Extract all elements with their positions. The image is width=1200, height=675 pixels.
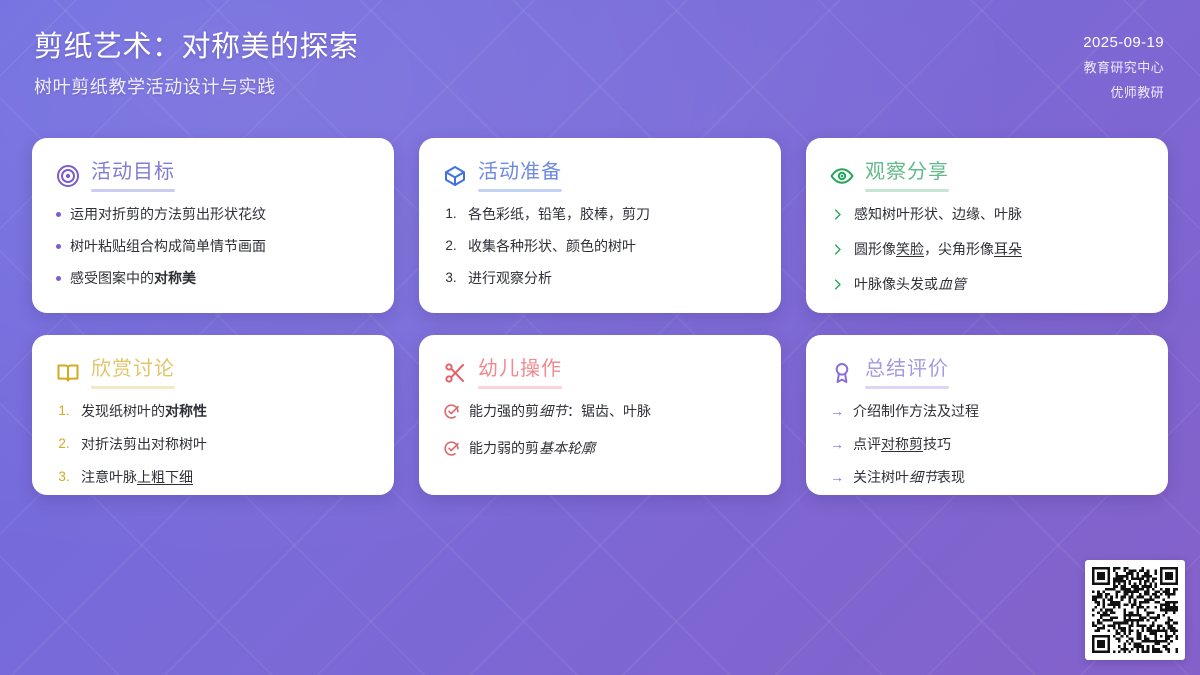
list-number: 3.: [56, 468, 72, 486]
medal-icon: [830, 361, 854, 385]
card-summary-evaluation[interactable]: 总结评价→介绍制作方法及过程→点评对称剪技巧→关注树叶细节表现: [806, 335, 1168, 495]
list-item-text: 能力强的剪细节：锯齿、叶脉: [469, 402, 651, 421]
list-item[interactable]: →介绍制作方法及过程: [830, 402, 1146, 421]
arrow-right-icon: →: [830, 468, 844, 487]
list-item-text: 树叶粘贴组合构成简单情节画面: [70, 237, 266, 256]
card-item-list: 1.发现纸树叶的对称性2.对折法剪出对称树叶3.注意叶脉上粗下细: [56, 402, 372, 495]
list-item-text: 发现纸树叶的对称性: [81, 402, 207, 421]
list-item-text: 感知树叶形状、边缘、叶脉: [854, 205, 1022, 224]
card-title: 欣赏讨论: [91, 358, 175, 380]
page-title: 剪纸艺术：对称美的探索: [34, 30, 359, 65]
list-item[interactable]: 叶脉像头发或血管: [830, 275, 1146, 294]
eye-icon: [830, 164, 854, 188]
card-activity-prep[interactable]: 活动准备1.各色彩纸，铅笔，胶棒，剪刀2.收集各种形状、颜色的树叶3.进行观察分…: [419, 138, 781, 313]
card-item-list: 1.各色彩纸，铅笔，胶棒，剪刀2.收集各种形状、颜色的树叶3.进行观察分析: [443, 205, 759, 301]
qr-code-image: [1092, 567, 1178, 653]
title-underline: [478, 189, 562, 192]
list-item[interactable]: →点评对称剪技巧: [830, 435, 1146, 454]
card-title: 观察分享: [865, 161, 949, 183]
list-item[interactable]: 树叶粘贴组合构成简单情节画面: [56, 237, 372, 256]
chevron-right-icon: [830, 275, 845, 292]
card-title-wrap: 活动目标: [91, 160, 175, 192]
title-underline: [91, 386, 175, 389]
card-header: 欣赏讨论: [56, 357, 372, 389]
card-item-list: →介绍制作方法及过程→点评对称剪技巧→关注树叶细节表现: [830, 402, 1146, 495]
list-item[interactable]: 1.发现纸树叶的对称性: [56, 402, 372, 421]
list-item-text: 圆形像笑脸，尖角形像耳朵: [854, 240, 1022, 259]
chevron-right-icon: [830, 205, 845, 222]
list-item-text: 能力弱的剪基本轮廓: [469, 439, 595, 458]
list-item-text: 进行观察分析: [468, 269, 552, 288]
list-item-text: 关注树叶细节表现: [853, 468, 965, 487]
card-header: 幼儿操作: [443, 357, 759, 389]
list-item[interactable]: 感知树叶形状、边缘、叶脉: [830, 205, 1146, 224]
list-item[interactable]: 感受图案中的对称美: [56, 269, 372, 288]
slide-root: 剪纸艺术：对称美的探索 树叶剪纸教学活动设计与实践 2025-09-19 教育研…: [0, 0, 1200, 675]
card-observe-share[interactable]: 观察分享感知树叶形状、边缘、叶脉圆形像笑脸，尖角形像耳朵叶脉像头发或血管: [806, 138, 1168, 313]
card-header: 活动准备: [443, 160, 759, 192]
card-children-operation[interactable]: 幼儿操作能力强的剪细节：锯齿、叶脉能力弱的剪基本轮廓: [419, 335, 781, 495]
list-item[interactable]: 3.进行观察分析: [443, 269, 759, 288]
header-date: 2025-09-19: [1083, 34, 1164, 51]
check-circle-icon: [443, 402, 460, 420]
list-number: 1.: [443, 205, 459, 223]
list-number: 1.: [56, 402, 72, 420]
card-activity-goals[interactable]: 活动目标运用对折剪的方法剪出形状花纹树叶粘贴组合构成简单情节画面感受图案中的对称…: [32, 138, 394, 313]
list-item-text: 叶脉像头发或血管: [854, 275, 966, 294]
list-item-text: 感受图案中的对称美: [70, 269, 196, 288]
box-icon: [443, 164, 467, 188]
list-item[interactable]: 运用对折剪的方法剪出形状花纹: [56, 205, 372, 224]
title-underline: [865, 386, 949, 389]
page-subtitle: 树叶剪纸教学活动设计与实践: [34, 73, 359, 99]
card-title-wrap: 总结评价: [865, 357, 949, 389]
title-underline: [91, 189, 175, 192]
list-number: 2.: [56, 435, 72, 453]
title-underline: [865, 189, 949, 192]
list-item[interactable]: 1.各色彩纸，铅笔，胶棒，剪刀: [443, 205, 759, 224]
bullet-dot-icon: [56, 205, 61, 217]
arrow-right-icon: →: [830, 402, 844, 421]
card-header: 总结评价: [830, 357, 1146, 389]
card-title: 幼儿操作: [478, 358, 562, 380]
list-item-text: 收集各种形状、颜色的树叶: [468, 237, 636, 256]
card-title: 总结评价: [865, 358, 949, 380]
card-title-wrap: 观察分享: [865, 160, 949, 192]
list-item-text: 注意叶脉上粗下细: [81, 468, 193, 487]
chevron-right-icon: [830, 240, 845, 257]
list-item[interactable]: →关注树叶细节表现: [830, 468, 1146, 487]
qr-code[interactable]: [1085, 560, 1185, 660]
list-item-text: 介绍制作方法及过程: [853, 402, 979, 421]
target-icon: [56, 164, 80, 188]
card-title: 活动目标: [91, 161, 175, 183]
title-underline: [478, 386, 562, 389]
card-title: 活动准备: [478, 161, 562, 183]
header-team: 优师教研: [1083, 82, 1164, 101]
card-item-list: 感知树叶形状、边缘、叶脉圆形像笑脸，尖角形像耳朵叶脉像头发或血管: [830, 205, 1146, 310]
card-item-list: 运用对折剪的方法剪出形状花纹树叶粘贴组合构成简单情节画面感受图案中的对称美: [56, 205, 372, 301]
header-left: 剪纸艺术：对称美的探索 树叶剪纸教学活动设计与实践: [34, 22, 359, 99]
card-header: 活动目标: [56, 160, 372, 192]
list-item[interactable]: 2.收集各种形状、颜色的树叶: [443, 237, 759, 256]
list-number: 2.: [443, 237, 459, 255]
list-item[interactable]: 能力强的剪细节：锯齿、叶脉: [443, 402, 759, 421]
list-item[interactable]: 圆形像笑脸，尖角形像耳朵: [830, 240, 1146, 259]
scissors-icon: [443, 361, 467, 385]
list-number: 3.: [443, 269, 459, 287]
check-circle-icon: [443, 439, 460, 457]
cards-grid: 活动目标运用对折剪的方法剪出形状花纹树叶粘贴组合构成简单情节画面感受图案中的对称…: [32, 138, 1172, 495]
list-item-text: 各色彩纸，铅笔，胶棒，剪刀: [468, 205, 650, 224]
book-icon: [56, 361, 80, 385]
list-item-text: 点评对称剪技巧: [853, 435, 951, 454]
bullet-dot-icon: [56, 237, 61, 249]
list-item[interactable]: 3.注意叶脉上粗下细: [56, 468, 372, 487]
card-item-list: 能力强的剪细节：锯齿、叶脉能力弱的剪基本轮廓: [443, 402, 759, 476]
card-title-wrap: 幼儿操作: [478, 357, 562, 389]
list-item[interactable]: 能力弱的剪基本轮廓: [443, 439, 759, 458]
card-appreciate-discuss[interactable]: 欣赏讨论1.发现纸树叶的对称性2.对折法剪出对称树叶3.注意叶脉上粗下细: [32, 335, 394, 495]
card-header: 观察分享: [830, 160, 1146, 192]
header-organization: 教育研究中心: [1083, 57, 1164, 76]
list-item-text: 运用对折剪的方法剪出形状花纹: [70, 205, 266, 224]
arrow-right-icon: →: [830, 435, 844, 454]
slide-header: 剪纸艺术：对称美的探索 树叶剪纸教学活动设计与实践 2025-09-19 教育研…: [0, 0, 1200, 120]
bullet-dot-icon: [56, 269, 61, 281]
card-title-wrap: 欣赏讨论: [91, 357, 175, 389]
card-title-wrap: 活动准备: [478, 160, 562, 192]
list-item[interactable]: 2.对折法剪出对称树叶: [56, 435, 372, 454]
header-meta: 2025-09-19 教育研究中心 优师教研: [1083, 22, 1164, 101]
list-item-text: 对折法剪出对称树叶: [81, 435, 207, 454]
